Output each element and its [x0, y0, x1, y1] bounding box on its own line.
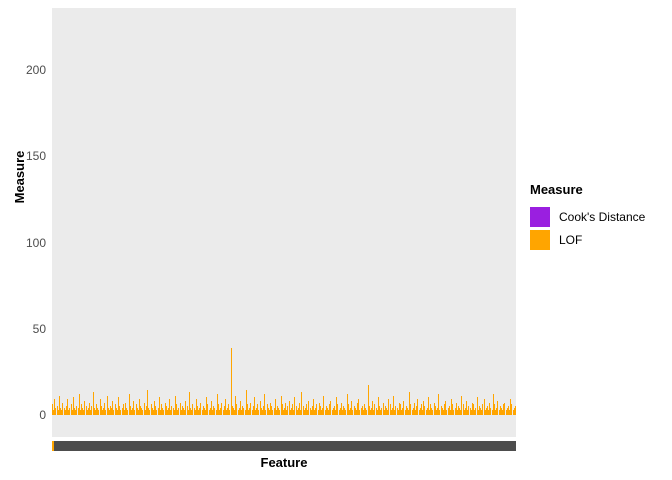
- legend-item[interactable]: Cook's Distance: [530, 205, 670, 228]
- y-axis-tick-label: 100: [4, 236, 46, 250]
- y-axis-tick-label: 150: [4, 149, 46, 163]
- legend-item-label: LOF: [559, 233, 582, 247]
- legend-item-label: Cook's Distance: [559, 210, 645, 224]
- bar-series-lof: [52, 8, 516, 415]
- legend: Measure Cook's DistanceLOF: [530, 182, 670, 251]
- plot-panel: [52, 8, 516, 437]
- x-axis-tick-strip: [52, 441, 516, 451]
- x-axis-strip-accent-marker: [52, 441, 54, 451]
- legend-items: Cook's DistanceLOF: [530, 205, 670, 251]
- bar: [231, 348, 232, 415]
- x-axis-title: Feature: [52, 455, 516, 470]
- legend-title: Measure: [530, 182, 670, 198]
- chart-container: Measure 050100150200 Feature Measure Coo…: [0, 0, 672, 480]
- y-axis-tick-labels: 050100150200: [0, 0, 46, 440]
- legend-swatch: [530, 207, 550, 227]
- y-axis-tick-label: 50: [4, 322, 46, 336]
- legend-swatch: [530, 230, 550, 250]
- y-axis-tick-label: 200: [4, 63, 46, 77]
- y-axis-tick-label: 0: [4, 408, 46, 422]
- bar: [515, 406, 516, 415]
- legend-item[interactable]: LOF: [530, 228, 670, 251]
